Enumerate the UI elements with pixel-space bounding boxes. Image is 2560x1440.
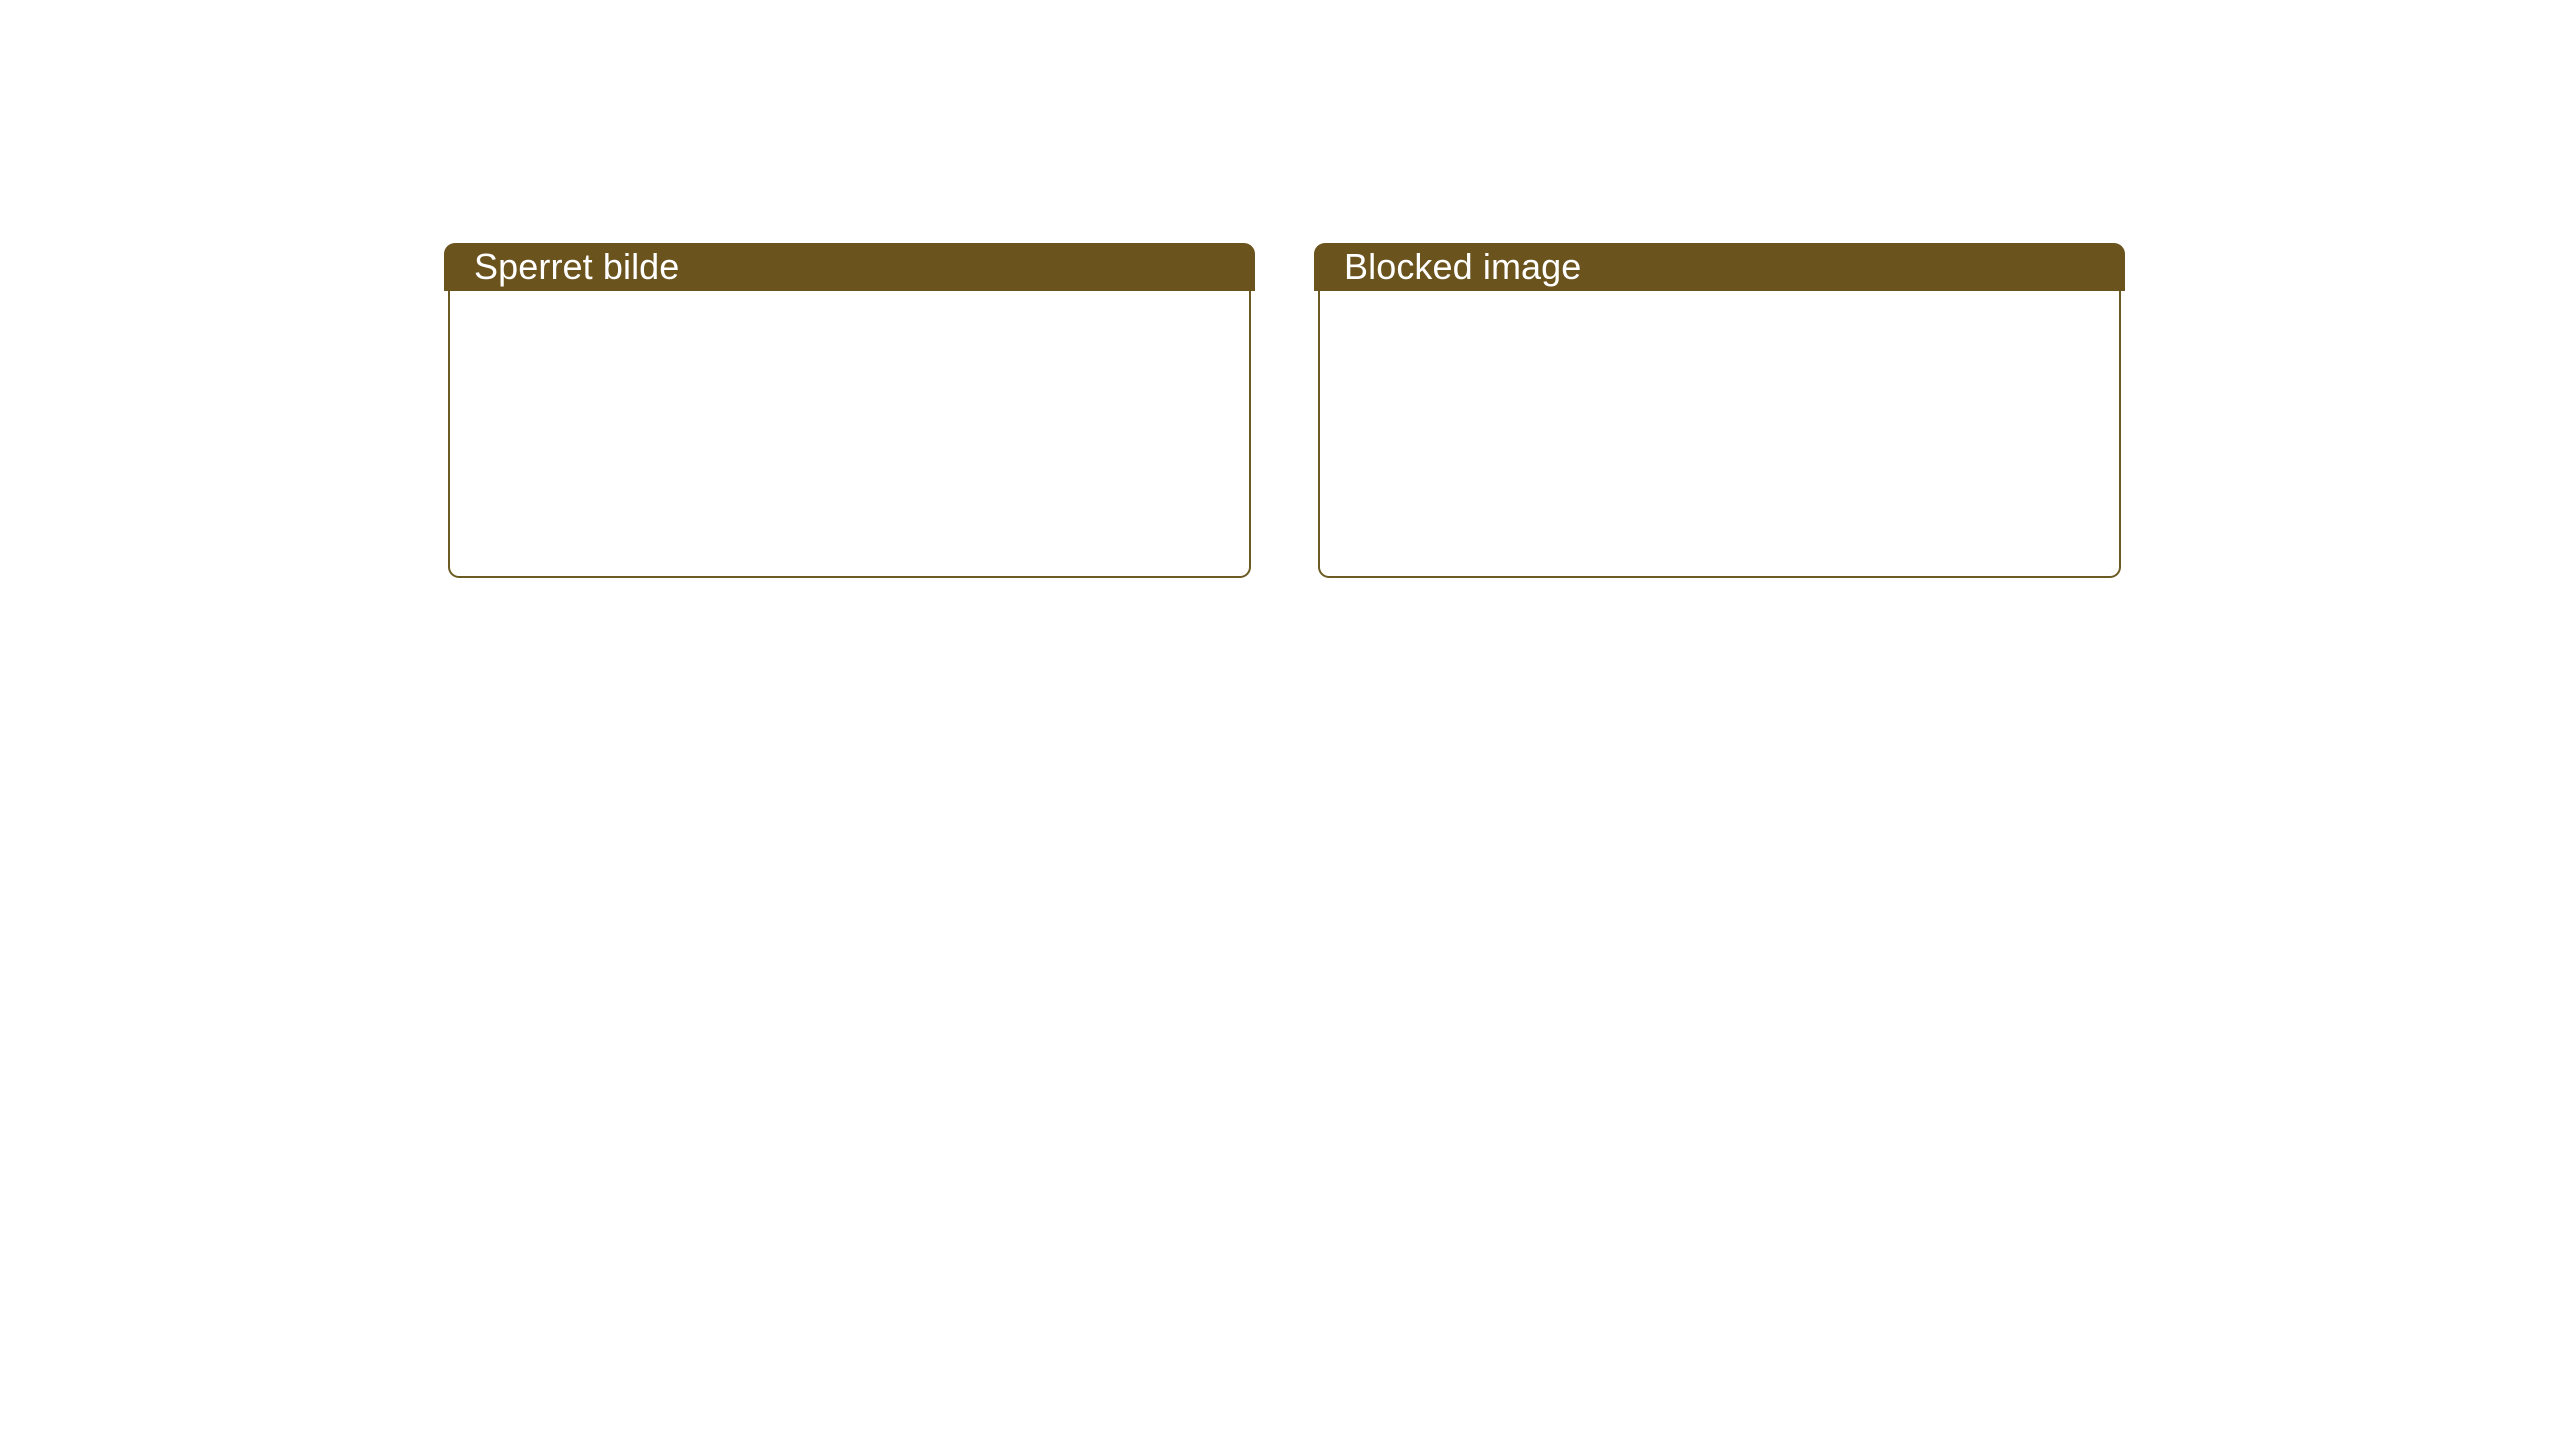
panel-title: Blocked image [1344,249,1581,285]
blocked-image-panel-norwegian: Sperret bilde Dette bildet er sperret gr… [448,243,1251,578]
panel-body [1318,243,2121,578]
panel-header-bar: Blocked image [1314,243,2125,291]
blocked-image-panel-english: Blocked image This image is restricted f… [1318,243,2121,578]
panel-title: Sperret bilde [474,249,679,285]
panel-header-bar: Sperret bilde [444,243,1255,291]
page-canvas: Sperret bilde Dette bildet er sperret gr… [0,0,2560,1440]
panel-body [448,243,1251,578]
